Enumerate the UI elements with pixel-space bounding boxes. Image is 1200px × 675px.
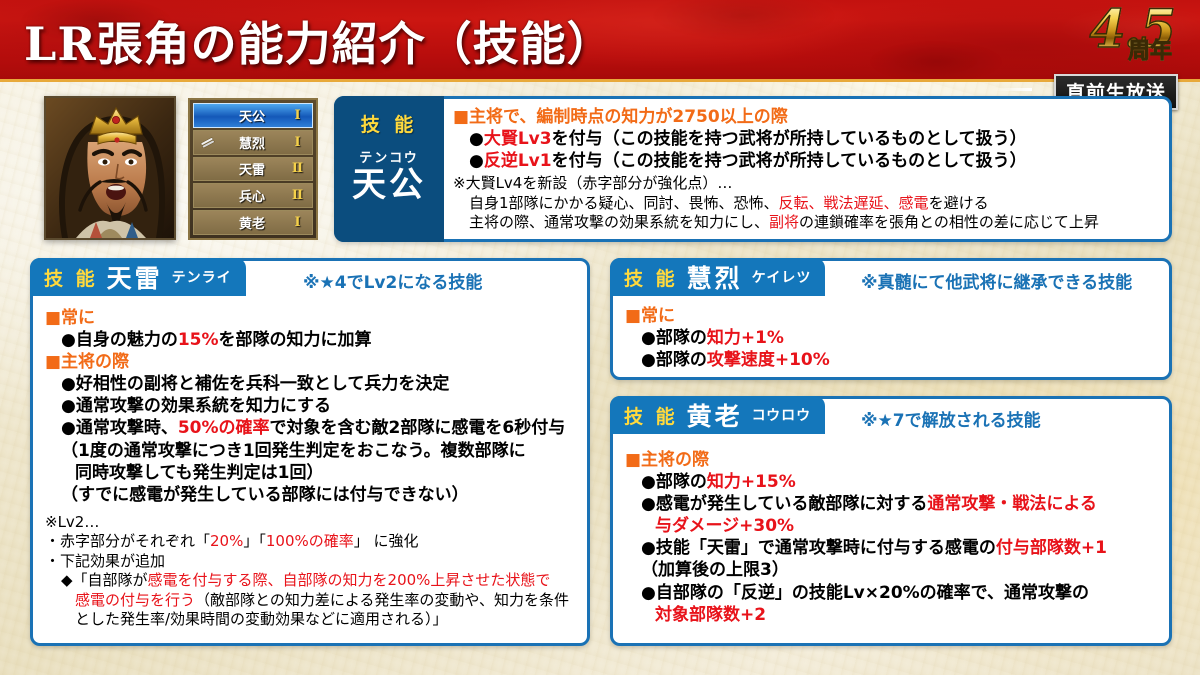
panel-name: 天雷 bbox=[107, 259, 163, 295]
tenkou-line-2-rest: を付与（この技能を持つ武将が所持しているものとして扱う） bbox=[552, 129, 1027, 149]
panel-note-kourou: ※★7で解放される技能 bbox=[861, 403, 1041, 433]
inherit-scroll-icon bbox=[200, 137, 216, 148]
page-title: LR張角の能力紹介（技能） bbox=[24, 8, 614, 74]
tenrai-line-6: 同時攻撃しても発生判定は1回） bbox=[45, 462, 577, 484]
panel-name: 天公 bbox=[352, 166, 426, 205]
panel-kana: コウロウ bbox=[752, 405, 811, 425]
tenkou-line-3-emphasis: 反逆Lv1 bbox=[484, 151, 552, 171]
panel-body-tenrai: ■常に ●自身の魅力の15%を部隊の知力に加算 ■主将の際 ●好相性の副将と補佐… bbox=[33, 303, 587, 630]
tenrai-note-1: ※Lv2… bbox=[45, 513, 577, 533]
bullet: ● bbox=[469, 129, 484, 149]
panel-note-keiretsu: ※真髄にて他武将に継承できる技能 bbox=[861, 265, 1132, 295]
tenkou-note-3: 主将の際、通常攻撃の効果系統を知力にし、副将の連鎖確率を張角との相性の差に応じて… bbox=[453, 213, 1161, 233]
panel-body-tenkou: ■主将で、編制時点の知力が2750以上の際 ●大賢Lv3を付与（この技能を持つ武… bbox=[447, 99, 1169, 239]
tenrai-line-1: ●自身の魅力の15%を部隊の知力に加算 bbox=[45, 329, 577, 351]
skill-list-item-3[interactable]: 兵心 II bbox=[193, 183, 313, 208]
panel-kana: ケイレツ bbox=[752, 267, 812, 287]
keiretsu-line-1: ●部隊の知力+1% bbox=[625, 327, 1159, 349]
kourou-line-5: ●自部隊の「反逆」の技能Lv×20%の確率で、通常攻撃の bbox=[625, 582, 1159, 604]
panel-name: 慧烈 bbox=[687, 259, 743, 295]
tenrai-head-2: ■主将の際 bbox=[45, 351, 577, 373]
tenkou-note-3-b: の連鎖確率を張角との相性の差に応じて上昇 bbox=[799, 213, 1099, 231]
skill-level: I bbox=[288, 135, 306, 150]
tenkou-note-3-emphasis: 副将 bbox=[769, 213, 799, 231]
kourou-line-3-emphasis: 付与部隊数+1 bbox=[996, 538, 1107, 558]
portrait-artwork bbox=[46, 98, 174, 238]
panel-label: 技 能 bbox=[624, 402, 678, 429]
skill-name: 天雷 bbox=[216, 159, 288, 178]
tenrai-line-1-b: を部隊の知力に加算 bbox=[219, 330, 372, 350]
panel-name: 黄老 bbox=[687, 397, 743, 433]
skill-name: 黄老 bbox=[216, 213, 288, 232]
tenrai-line-5: （1度の通常攻撃につき1回発生判定をおこなう。複数部隊に bbox=[45, 440, 577, 462]
panel-header-kourou: 技 能 黄老 コウロウ bbox=[610, 396, 825, 434]
tenkou-note-2: 自身1部隊にかかる疑心、同討、畏怖、恐怖、反転、戦法遅延、感電を避ける bbox=[453, 194, 1161, 214]
panel-body-keiretsu: ■常に ●部隊の知力+1% ●部隊の攻撃速度+10% bbox=[613, 301, 1169, 371]
tenkou-line-1: ■主将で、編制時点の知力が2750以上の際 bbox=[453, 106, 1161, 128]
tenkou-note-2-a: 自身1部隊にかかる疑心、同討、畏怖、恐怖、 bbox=[469, 194, 779, 212]
skill-panel-kourou: 技 能 黄老 コウロウ ※★7で解放される技能 ■主将の際 ●部隊の知力+15%… bbox=[610, 396, 1172, 646]
kourou-line-2-cont: 与ダメージ+30% bbox=[625, 515, 1159, 537]
tenrai-head-1: ■常に bbox=[45, 307, 577, 329]
tenrai-note-4: ◆「自部隊が感電を付与する際、自部隊の知力を200%上昇させた状態で bbox=[45, 571, 577, 591]
skill-list-item-1[interactable]: 慧烈 I bbox=[193, 130, 313, 155]
tenrai-note-5-emphasis: 感電の付与を行う bbox=[75, 591, 195, 609]
tenrai-note-2-mid: 」「 bbox=[243, 532, 266, 550]
tenrai-line-4-emphasis: 50%の確率 bbox=[178, 418, 270, 438]
tenrai-note-4-a: ◆「自部隊が bbox=[61, 571, 148, 589]
anniversary-logo: 4.5 周年 直前生放送 bbox=[1002, 2, 1192, 102]
panel-note-tenrai: ※★4でLv2になる技能 bbox=[303, 265, 482, 295]
bullet: ● bbox=[469, 151, 484, 171]
tenkou-note-1: ※大賢Lv4を新設（赤字部分が強化点）… bbox=[453, 174, 1161, 194]
character-portrait bbox=[44, 96, 176, 240]
skill-list-item-4[interactable]: 黄老 I bbox=[193, 210, 313, 235]
tenkou-note-2-b: を避ける bbox=[929, 194, 989, 212]
keiretsu-line-2-emphasis: 攻撃速度+10% bbox=[707, 350, 830, 370]
tenrai-note-5-b: （敵部隊との知力差による発生率の変動や、知力を条件 bbox=[195, 591, 569, 609]
tenrai-note-6: とした発生率/効果時間の変動効果などに適用される）」 bbox=[45, 610, 577, 630]
panel-label: 技 能 bbox=[624, 264, 678, 291]
kourou-head-1: ■主将の際 bbox=[625, 449, 1159, 471]
tenkou-line-2: ●大賢Lv3を付与（この技能を持つ武将が所持しているものとして扱う） bbox=[453, 128, 1161, 150]
kourou-line-2-emphasis: 通常攻撃・戦法による bbox=[927, 494, 1097, 514]
tenrai-note-3: ・下記効果が追加 bbox=[45, 552, 577, 572]
tenkou-line-3: ●反逆Lv1を付与（この技能を持つ武将が所持しているものとして扱う） bbox=[453, 150, 1161, 172]
panel-label: 技 能 bbox=[44, 264, 98, 291]
kourou-line-1: ●部隊の知力+15% bbox=[625, 471, 1159, 493]
skill-name: 天公 bbox=[216, 106, 288, 125]
keiretsu-line-1-emphasis: 知力+1% bbox=[707, 328, 784, 348]
kourou-line-1-a: ●部隊の bbox=[641, 472, 707, 492]
kourou-line-3: ●技能「天雷」で通常攻撃時に付与する感電の付与部隊数+1 bbox=[625, 537, 1159, 559]
keiretsu-line-2-a: ●部隊の bbox=[641, 350, 707, 370]
kourou-line-2: ●感電が発生している敵部隊に対する通常攻撃・戦法による bbox=[625, 493, 1159, 515]
panel-kana: テンコウ bbox=[359, 147, 418, 166]
keiretsu-line-1-a: ●部隊の bbox=[641, 328, 707, 348]
skill-name: 兵心 bbox=[216, 186, 288, 205]
kourou-line-1-emphasis: 知力+15% bbox=[707, 472, 796, 492]
kourou-line-5-cont: 対象部隊数+2 bbox=[625, 604, 1159, 626]
tenrai-line-4-a: ●通常攻撃時、 bbox=[61, 418, 178, 438]
tenrai-note-2-emphasis-1: 20% bbox=[210, 532, 243, 550]
tenrai-note-2-emphasis-2: 100%の確率 bbox=[266, 532, 354, 550]
panel-kana: テンライ bbox=[172, 267, 232, 287]
tenrai-note-4-emphasis: 感電を付与する際、自部隊の知力を200%上昇させた状態で bbox=[148, 571, 551, 589]
tenkou-note-2-emphasis: 反転、戦法遅延、感電 bbox=[779, 194, 929, 212]
kourou-line-3-a: ●技能「天雷」で通常攻撃時に付与する感電の bbox=[641, 538, 996, 558]
tenrai-line-1-emphasis: 15% bbox=[178, 330, 219, 350]
tenrai-line-1-a: ●自身の魅力の bbox=[61, 330, 178, 350]
skill-list-item-0[interactable]: 天公 I bbox=[193, 103, 313, 128]
kourou-line-4: （加算後の上限3） bbox=[625, 559, 1159, 581]
tenkou-line-2-emphasis: 大賢Lv3 bbox=[484, 129, 552, 149]
panel-header-keiretsu: 技 能 慧烈 ケイレツ bbox=[610, 258, 825, 296]
kourou-line-2-a: ●感電が発生している敵部隊に対する bbox=[641, 494, 927, 514]
keiretsu-line-2: ●部隊の攻撃速度+10% bbox=[625, 349, 1159, 371]
logo-rule bbox=[992, 88, 1032, 91]
skill-list[interactable]: 天公 I 慧烈 I 天雷 II 兵心 II 黄老 I bbox=[188, 98, 318, 240]
tenrai-line-3: ●通常攻撃の効果系統を知力にする bbox=[45, 395, 577, 417]
tenkou-line-3-rest: を付与（この技能を持つ武将が所持しているものとして扱う） bbox=[552, 151, 1027, 171]
skill-panel-tenkou: 技 能 テンコウ 天公 ■主将で、編制時点の知力が2750以上の際 ●大賢Lv3… bbox=[334, 96, 1172, 242]
panel-header-tenkou: 技 能 テンコウ 天公 bbox=[334, 96, 444, 242]
skill-level: II bbox=[288, 188, 306, 203]
skill-name: 慧烈 bbox=[216, 133, 288, 152]
spacer bbox=[45, 506, 577, 513]
tenkou-note-3-a: 主将の際、通常攻撃の効果系統を知力にし、 bbox=[469, 213, 769, 231]
skill-level: I bbox=[288, 108, 306, 123]
keiretsu-head-1: ■常に bbox=[625, 305, 1159, 327]
tenrai-note-2: ・赤字部分がそれぞれ「20%」「100%の確率」 に強化 bbox=[45, 532, 577, 552]
skill-level: I bbox=[288, 215, 306, 230]
tenrai-note-2-a: ・赤字部分がそれぞれ「 bbox=[45, 532, 210, 550]
tenrai-line-7: （すでに感電が発生している部隊には付与できない） bbox=[45, 484, 577, 506]
tenrai-line-4: ●通常攻撃時、50%の確率で対象を含む敵2部隊に感電を6秒付与 bbox=[45, 417, 577, 439]
tenrai-note-2-b: 」 に強化 bbox=[354, 532, 419, 550]
skill-panel-keiretsu: 技 能 慧烈 ケイレツ ※真髄にて他武将に継承できる技能 ■常に ●部隊の知力+… bbox=[610, 258, 1172, 380]
panel-header-tenrai: 技 能 天雷 テンライ bbox=[30, 258, 246, 296]
panel-body-kourou: ■主将の際 ●部隊の知力+15% ●感電が発生している敵部隊に対する通常攻撃・戦… bbox=[613, 445, 1169, 626]
skill-list-item-2[interactable]: 天雷 II bbox=[193, 157, 313, 182]
tenrai-note-5: 感電の付与を行う（敵部隊との知力差による発生率の変動や、知力を条件 bbox=[45, 591, 577, 611]
skill-panel-tenrai: 技 能 天雷 テンライ ※★4でLv2になる技能 ■常に ●自身の魅力の15%を… bbox=[30, 258, 590, 646]
skill-level: II bbox=[288, 161, 306, 176]
tenrai-line-4-b: で対象を含む敵2部隊に感電を6秒付与 bbox=[270, 418, 566, 438]
tenrai-line-2: ●好相性の副将と補佐を兵科一致として兵力を決定 bbox=[45, 373, 577, 395]
anniversary-suffix: 周年 bbox=[1128, 40, 1172, 62]
panel-label: 技 能 bbox=[361, 110, 418, 137]
